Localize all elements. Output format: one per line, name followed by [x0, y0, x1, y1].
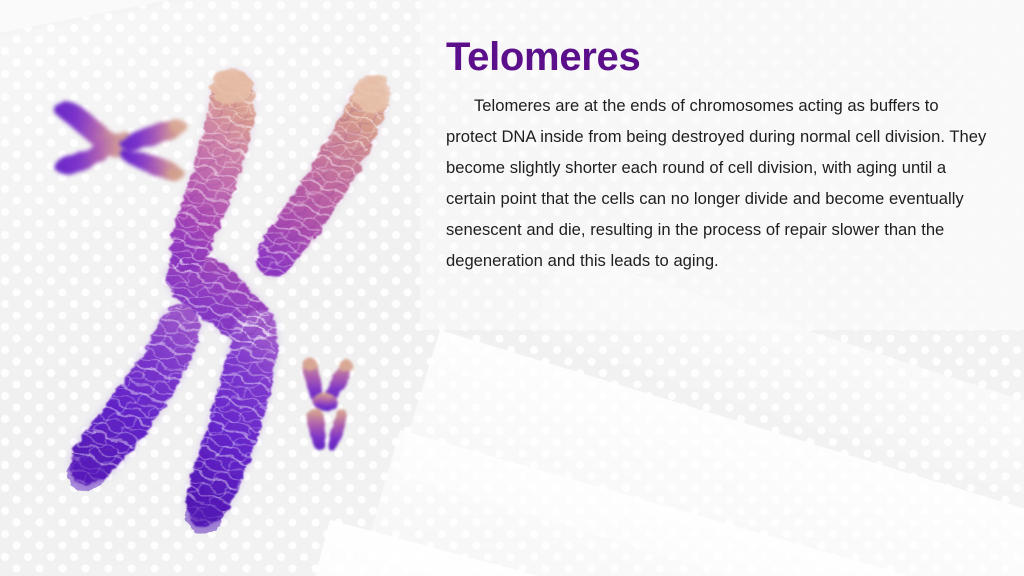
- text-content-block: Telomeres Telomeres are at the ends of c…: [446, 36, 992, 276]
- chromosome-secondary-top-left: [48, 88, 198, 203]
- chromosome-secondary-bottom: [288, 352, 360, 454]
- page-title: Telomeres: [446, 36, 992, 78]
- slide-canvas: Telomeres Telomeres are at the ends of c…: [0, 0, 1024, 576]
- chromosome-shape: [303, 358, 352, 451]
- chromosome-shape: [54, 101, 184, 180]
- body-paragraph: Telomeres are at the ends of chromosomes…: [446, 90, 992, 276]
- telomere-tips-small: [303, 358, 353, 372]
